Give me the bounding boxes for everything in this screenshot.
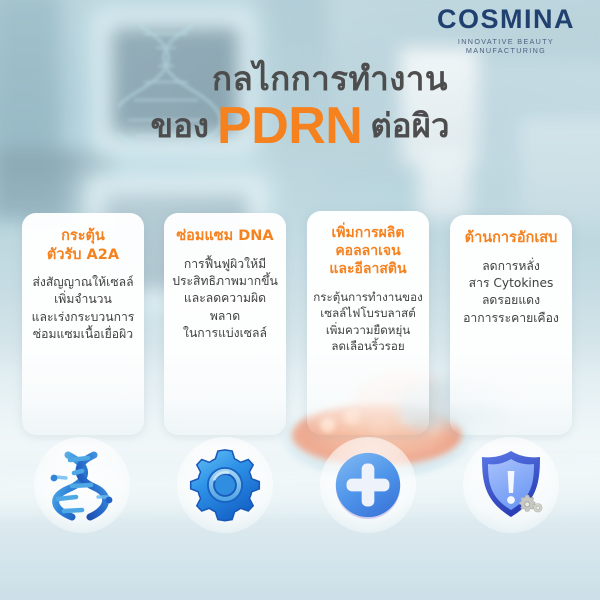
- benefit-card[interactable]: ซ่อมแซม DNA การฟื้นฟูผิวให้มี ประสิทธิภา…: [164, 213, 286, 435]
- plus-circle-icon: [329, 446, 407, 524]
- shield-alert-icon: [471, 445, 551, 525]
- card-title: ต้านการอักเสบ: [456, 229, 566, 248]
- gear-icon: [187, 447, 263, 523]
- icon-slot-1: [34, 437, 130, 533]
- card-title: เพิ่มการผลิต คอลลาเจน และอีลาสติน: [313, 225, 423, 279]
- card-body: การฟื้นฟูผิวให้มี ประสิทธิภาพมากขึ้น และ…: [170, 256, 280, 343]
- card-body: ส่งสัญญาณให้เซลล์ เพิ่มจำนวน และเร่งกระบ…: [28, 274, 138, 343]
- card-title: ซ่อมแซม DNA: [170, 227, 280, 246]
- card-body: ลดการหลั่ง สาร Cytokines ลดรอยแดง อาการร…: [456, 258, 566, 327]
- poster-canvas: COSMINA INNOVATIVE BEAUTY MANUFACTURING …: [0, 0, 600, 600]
- card-body: กระตุ้นการทำงานของ เซลล์ไฟโบรบลาสต์ เพิ่…: [313, 289, 423, 355]
- benefit-card[interactable]: ต้านการอักเสบ ลดการหลั่ง สาร Cytokines ล…: [450, 215, 572, 435]
- dna-helix-icon: [42, 445, 122, 525]
- icon-slot-3: [320, 437, 416, 533]
- icon-slot-2: [177, 437, 273, 533]
- card-title: กระตุ้น ตัวรับ A2A: [28, 227, 138, 264]
- icon-slot-4: [463, 437, 559, 533]
- benefit-card[interactable]: กระตุ้น ตัวรับ A2A ส่งสัญญาณให้เซลล์ เพิ…: [22, 213, 144, 435]
- benefit-card[interactable]: เพิ่มการผลิต คอลลาเจน และอีลาสติน กระตุ้…: [307, 211, 429, 435]
